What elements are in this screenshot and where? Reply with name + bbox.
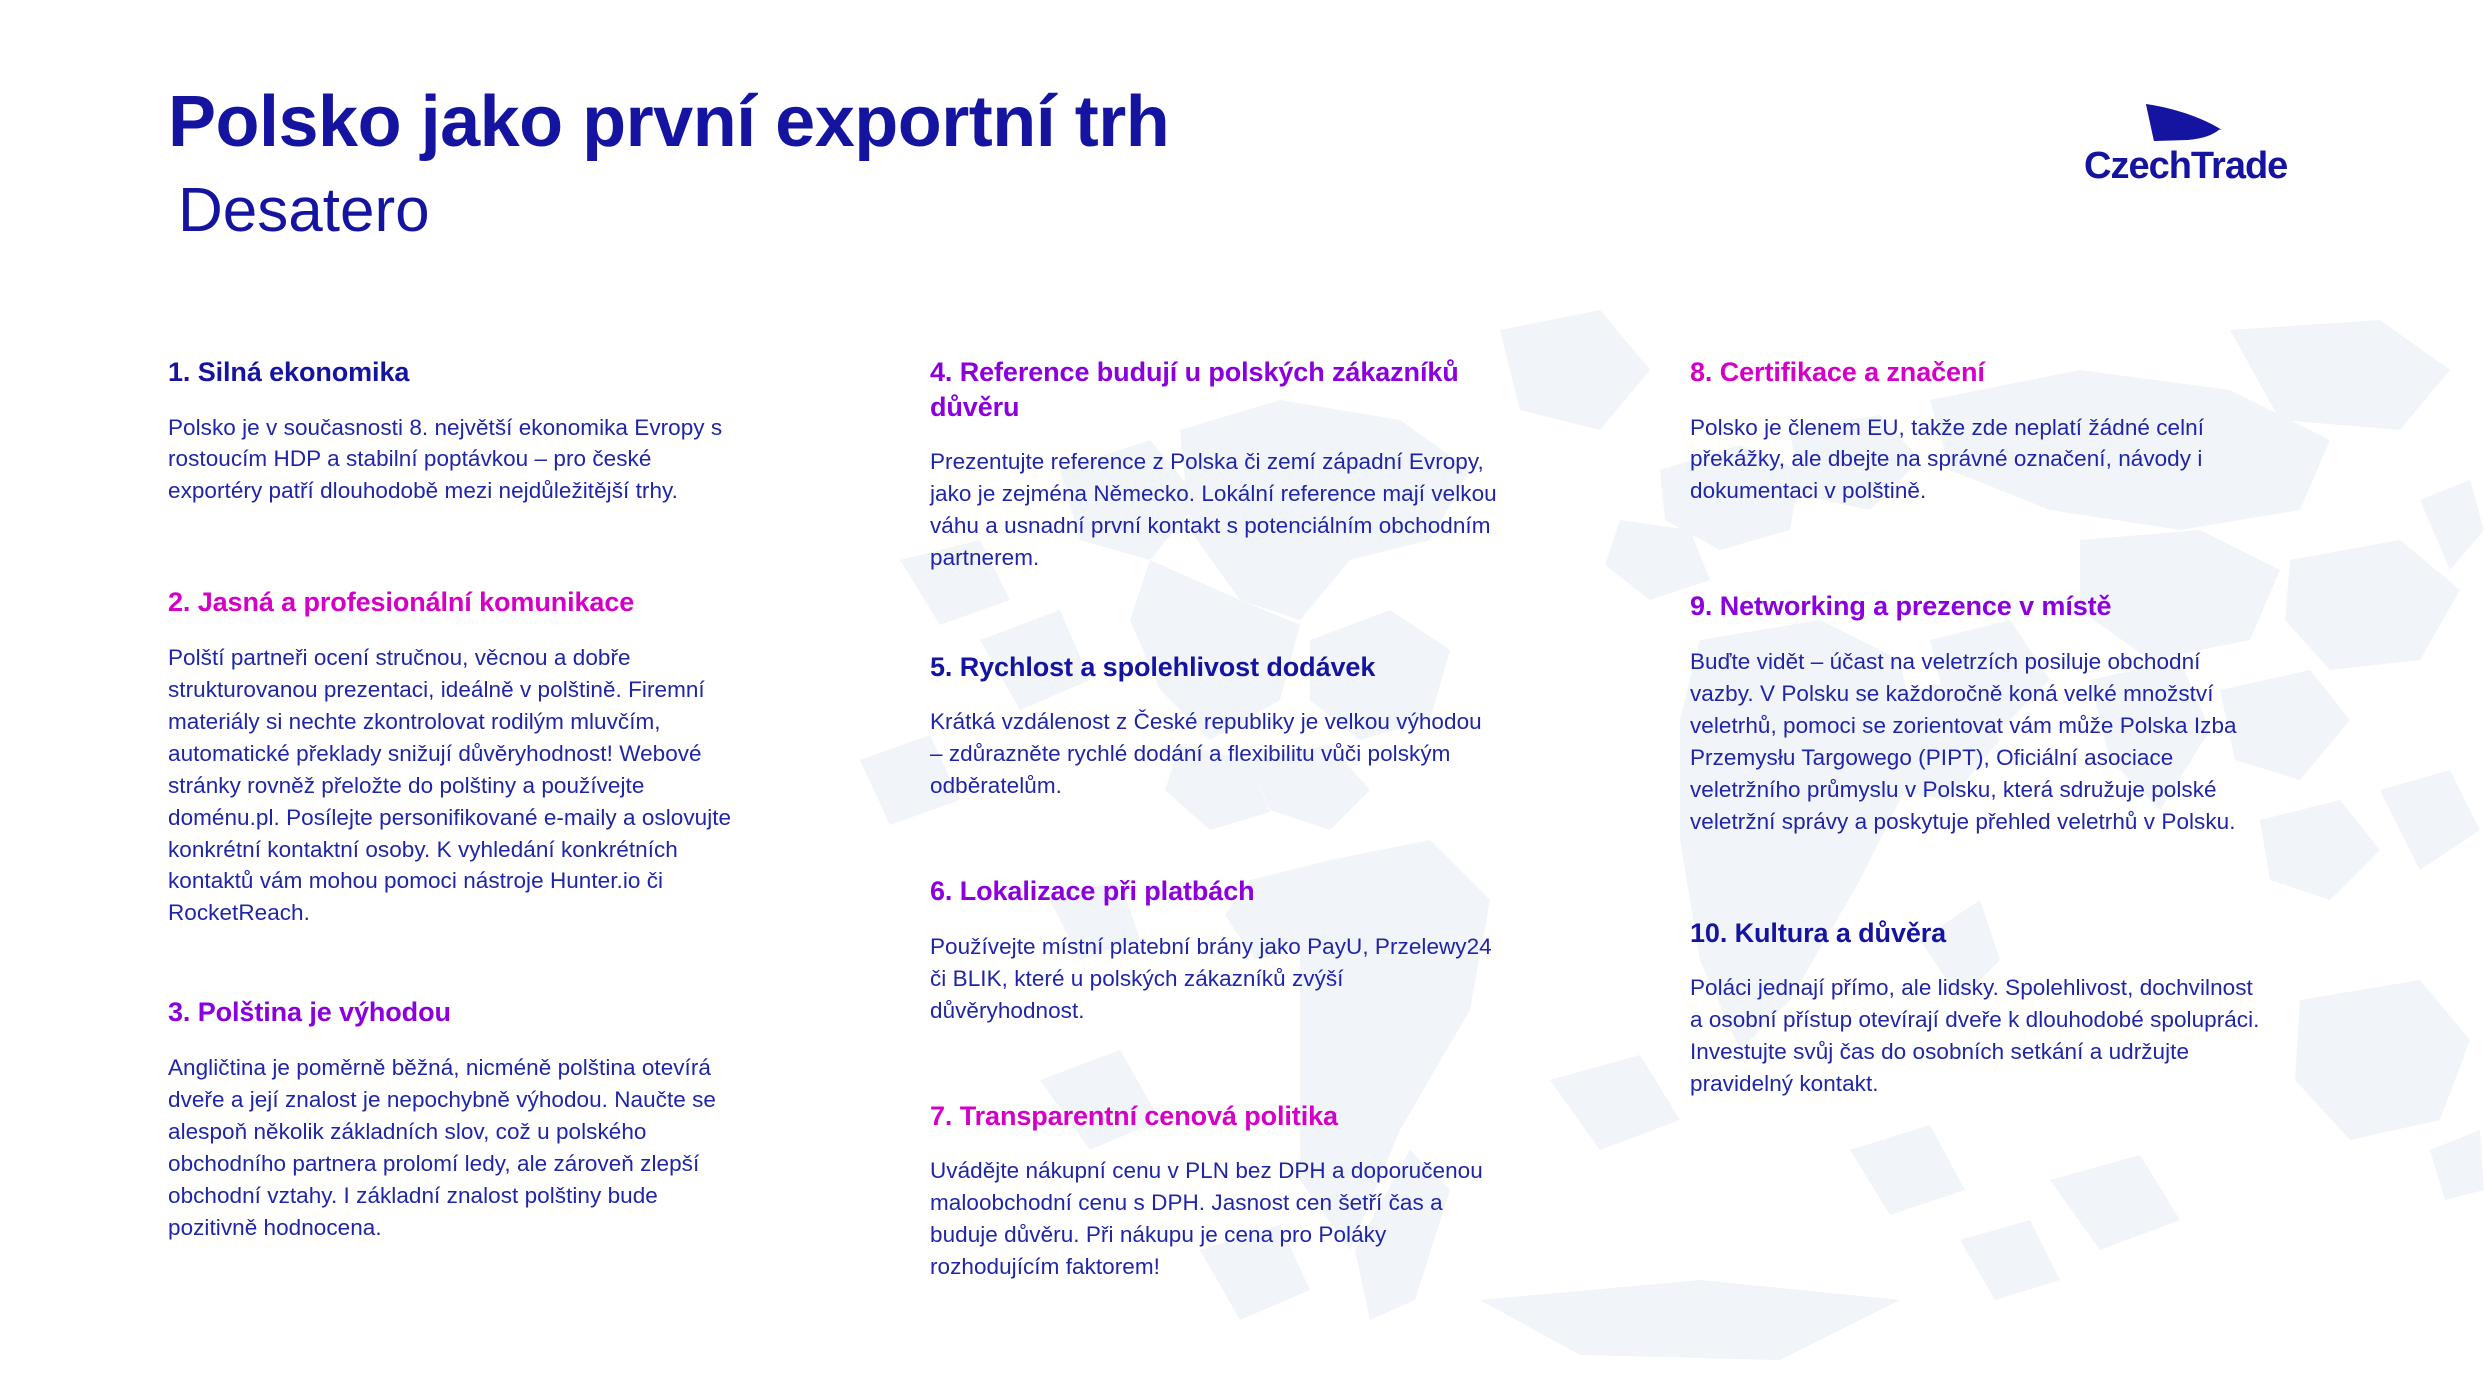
- item-9-body: Buďte vidět – účast na veletrzích posilu…: [1690, 646, 2270, 838]
- czechtrade-wordmark: CzechTrade: [2084, 145, 2287, 187]
- item-1-body: Polsko je v současnosti 8. největší ekon…: [168, 412, 738, 508]
- list-item-9: 9. Networking a prezence v místě Buďte v…: [1690, 589, 2270, 837]
- item-6-body: Používejte místní platební brány jako Pa…: [930, 931, 1500, 1027]
- list-item-7: 7. Transparentní cenová politika Uvádějt…: [930, 1099, 1500, 1283]
- item-5-body: Krátká vzdálenost z České republiky je v…: [930, 706, 1500, 802]
- item-8-heading: 8. Certifikace a značení: [1690, 355, 2270, 390]
- item-4-body: Prezentujte reference z Polska či zemí z…: [930, 446, 1500, 574]
- column-1: 1. Silná ekonomika Polsko je v současnos…: [168, 355, 738, 1244]
- list-item-3: 3. Polština je výhodou Angličtina je pom…: [168, 995, 738, 1243]
- item-3-body: Angličtina je poměrně běžná, nicméně pol…: [168, 1052, 738, 1244]
- item-8-body: Polsko je členem EU, takže zde neplatí ž…: [1690, 412, 2270, 508]
- list-item-2: 2. Jasná a profesionální komunikace Polš…: [168, 585, 738, 929]
- list-item-10: 10. Kultura a důvěra Poláci jednají přím…: [1690, 916, 2270, 1100]
- page-title: Polsko jako první exportní trh: [168, 86, 1169, 158]
- list-item-6: 6. Lokalizace při platbách Používejte mí…: [930, 874, 1500, 1026]
- item-3-heading: 3. Polština je výhodou: [168, 995, 738, 1030]
- item-2-heading: 2. Jasná a profesionální komunikace: [168, 585, 738, 620]
- item-2-body: Polští partneři ocení stručnou, věcnou a…: [168, 642, 738, 929]
- item-1-heading: 1. Silná ekonomika: [168, 355, 738, 390]
- list-item-4: 4. Reference budují u polských zákazníků…: [930, 355, 1500, 574]
- list-item-5: 5. Rychlost a spolehlivost dodávek Krátk…: [930, 650, 1500, 802]
- presentation-slide: Polsko jako první exportní trh Desatero …: [0, 0, 2484, 1398]
- slide-header: Polsko jako první exportní trh Desatero …: [0, 0, 2484, 300]
- czechtrade-logo: CzechTrade: [2084, 96, 2334, 192]
- item-10-body: Poláci jednají přímo, ale lidsky. Spoleh…: [1690, 972, 2270, 1100]
- item-9-heading: 9. Networking a prezence v místě: [1690, 589, 2270, 624]
- list-item-8: 8. Certifikace a značení Polsko je člene…: [1690, 355, 2270, 507]
- column-3: 8. Certifikace a značení Polsko je člene…: [1690, 355, 2270, 1100]
- item-6-heading: 6. Lokalizace při platbách: [930, 874, 1500, 909]
- item-10-heading: 10. Kultura a důvěra: [1690, 916, 2270, 951]
- list-item-1: 1. Silná ekonomika Polsko je v současnos…: [168, 355, 738, 507]
- page-subtitle: Desatero: [178, 180, 1169, 242]
- title-block: Polsko jako první exportní trh Desatero: [168, 86, 1169, 242]
- item-4-heading: 4. Reference budují u polských zákazníků…: [930, 355, 1500, 424]
- item-7-body: Uvádějte nákupní cenu v PLN bez DPH a do…: [930, 1155, 1500, 1283]
- item-7-heading: 7. Transparentní cenová politika: [930, 1099, 1500, 1134]
- item-5-heading: 5. Rychlost a spolehlivost dodávek: [930, 650, 1500, 685]
- column-2: 4. Reference budují u polských zákazníků…: [930, 355, 1500, 1283]
